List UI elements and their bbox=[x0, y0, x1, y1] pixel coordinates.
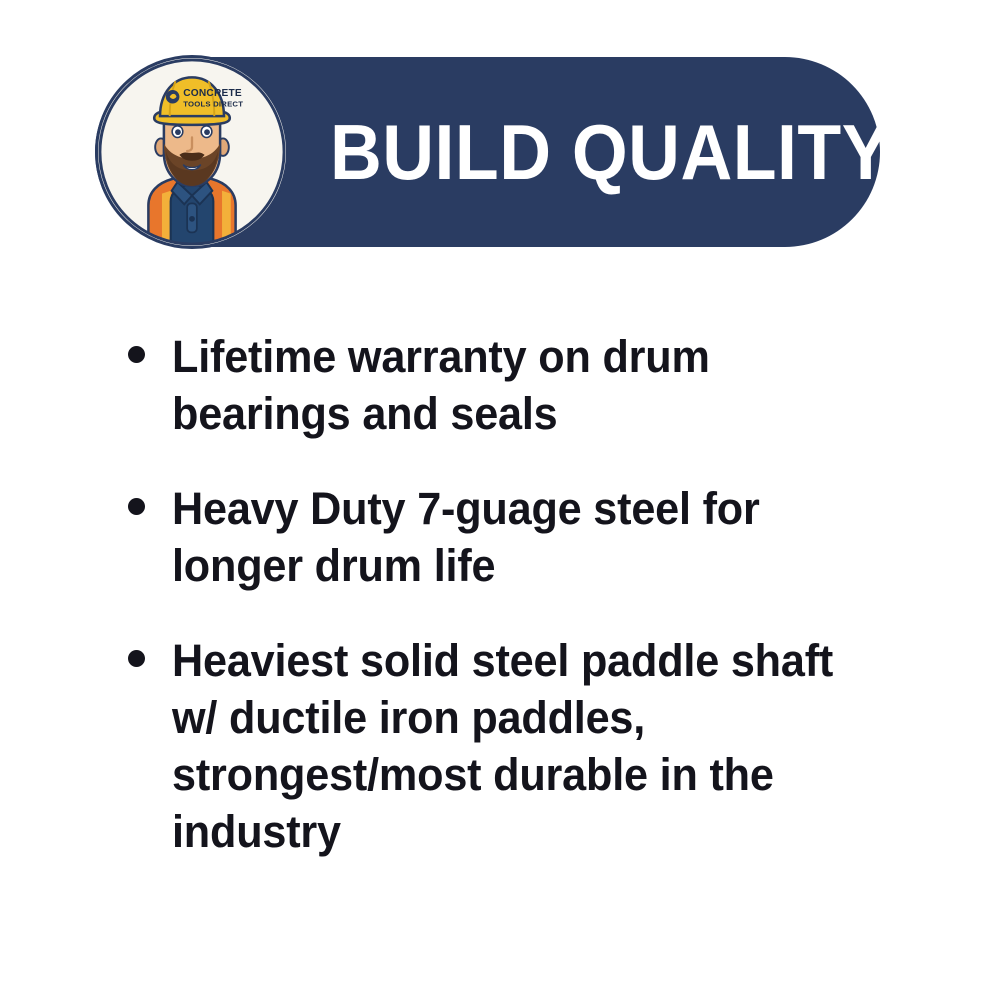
feature-list: Lifetime warranty on drum bearings and s… bbox=[128, 328, 918, 860]
avatar: CONCRETE TOOLS DIRECT bbox=[95, 55, 289, 249]
list-item: Heavy Duty 7-guage steel for longer drum… bbox=[128, 480, 918, 594]
bullet-dot-icon bbox=[128, 346, 145, 363]
list-item: Heaviest solid steel paddle shaft w/ duc… bbox=[128, 632, 918, 860]
list-item-text: Heaviest solid steel paddle shaft w/ duc… bbox=[172, 632, 888, 860]
svg-text:TOOLS DIRECT: TOOLS DIRECT bbox=[183, 99, 243, 108]
bullet-dot-icon bbox=[128, 498, 145, 515]
worker-mascot-icon: CONCRETE TOOLS DIRECT bbox=[98, 58, 286, 246]
list-item: Lifetime warranty on drum bearings and s… bbox=[128, 328, 918, 442]
build-quality-card: BUILD QUALITY bbox=[0, 0, 1000, 1000]
list-item-text: Heavy Duty 7-guage steel for longer drum… bbox=[172, 480, 888, 594]
page-title: BUILD QUALITY bbox=[362, 57, 859, 247]
header-banner: BUILD QUALITY bbox=[95, 57, 880, 247]
list-item-text: Lifetime warranty on drum bearings and s… bbox=[172, 328, 888, 442]
svg-text:CONCRETE: CONCRETE bbox=[183, 88, 242, 99]
bullet-dot-icon bbox=[128, 650, 145, 667]
